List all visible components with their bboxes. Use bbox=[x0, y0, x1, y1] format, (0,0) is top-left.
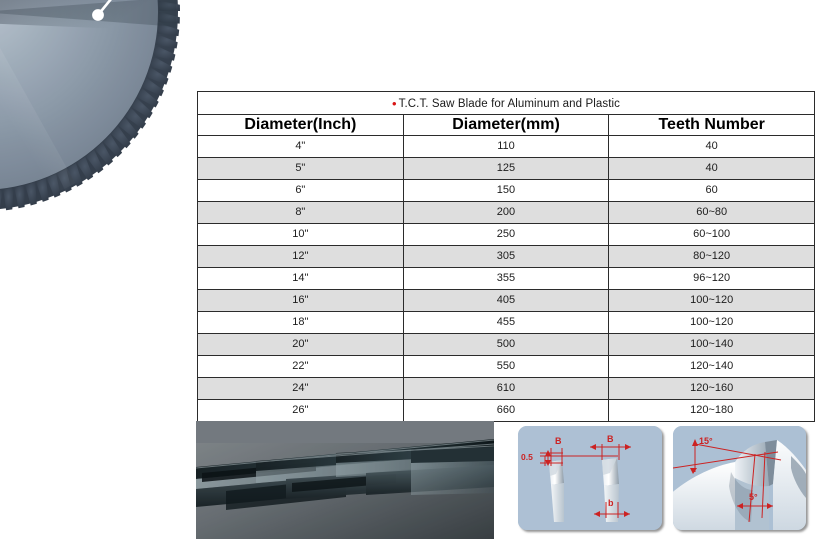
table-row: 20"500100~140 bbox=[198, 334, 815, 356]
table-row: 18"455100~120 bbox=[198, 312, 815, 334]
label-b-upper: B bbox=[555, 436, 562, 446]
table-cell: 305 bbox=[403, 246, 609, 268]
table-cell: 405 bbox=[403, 290, 609, 312]
table-row: 22"550120~140 bbox=[198, 356, 815, 378]
table-cell: 550 bbox=[403, 356, 609, 378]
table-title-text: T.C.T. Saw Blade for Aluminum and Plasti… bbox=[399, 98, 620, 110]
table-cell: 8" bbox=[198, 202, 404, 224]
table-row: 16"405100~120 bbox=[198, 290, 815, 312]
label-angle-5: 5° bbox=[749, 492, 758, 502]
table-cell: 60~100 bbox=[609, 224, 815, 246]
table-body: 4"110405"125406"150608"20060~8010"25060~… bbox=[198, 136, 815, 422]
table-cell: 10" bbox=[198, 224, 404, 246]
table-cell: 26" bbox=[198, 400, 404, 422]
table-cell: 6" bbox=[198, 180, 404, 202]
table-row: 5"12540 bbox=[198, 158, 815, 180]
table-cell: 100~120 bbox=[609, 312, 815, 334]
column-header-teeth-number: Teeth Number bbox=[609, 115, 815, 136]
table-cell: 120~160 bbox=[609, 378, 815, 400]
table-cell: 110 bbox=[403, 136, 609, 158]
table-cell: 60~80 bbox=[609, 202, 815, 224]
spec-table-container: •T.C.T. Saw Blade for Aluminum and Plast… bbox=[197, 91, 815, 422]
table-cell: 12" bbox=[198, 246, 404, 268]
table-cell: 20" bbox=[198, 334, 404, 356]
table-row: 6"15060 bbox=[198, 180, 815, 202]
table-cell: 500 bbox=[403, 334, 609, 356]
table-cell: 250 bbox=[403, 224, 609, 246]
table-cell: 610 bbox=[403, 378, 609, 400]
table-cell: 80~120 bbox=[609, 246, 815, 268]
table-cell: 355 bbox=[403, 268, 609, 290]
label-b-right: B bbox=[607, 434, 614, 444]
table-row: 12"30580~120 bbox=[198, 246, 815, 268]
table-header-row: Diameter(Inch) Diameter(mm) Teeth Number bbox=[198, 115, 815, 136]
table-cell: 5" bbox=[198, 158, 404, 180]
table-title: •T.C.T. Saw Blade for Aluminum and Plast… bbox=[198, 92, 815, 115]
table-cell: 96~120 bbox=[609, 268, 815, 290]
tooth-width-diagram: B B 0.5 b bbox=[518, 426, 662, 530]
table-title-row: •T.C.T. Saw Blade for Aluminum and Plast… bbox=[198, 92, 815, 115]
table-cell: 455 bbox=[403, 312, 609, 334]
table-cell: 125 bbox=[403, 158, 609, 180]
table-cell: 24" bbox=[198, 378, 404, 400]
table-row: 26"660120~180 bbox=[198, 400, 815, 422]
label-thickness: 0.5 bbox=[521, 452, 533, 462]
circular-saw-blade-photo bbox=[0, 0, 192, 224]
column-header-diameter-mm: Diameter(mm) bbox=[403, 115, 609, 136]
table-cell: 120~140 bbox=[609, 356, 815, 378]
table-cell: 14" bbox=[198, 268, 404, 290]
table-cell: 100~120 bbox=[609, 290, 815, 312]
table-cell: 200 bbox=[403, 202, 609, 224]
table-cell: 660 bbox=[403, 400, 609, 422]
table-cell: 150 bbox=[403, 180, 609, 202]
bullet-icon: • bbox=[392, 96, 397, 111]
table-cell: 22" bbox=[198, 356, 404, 378]
table-cell: 4" bbox=[198, 136, 404, 158]
table-cell: 60 bbox=[609, 180, 815, 202]
table-cell: 40 bbox=[609, 158, 815, 180]
table-cell: 16" bbox=[198, 290, 404, 312]
table-row: 14"35596~120 bbox=[198, 268, 815, 290]
table-row: 10"25060~100 bbox=[198, 224, 815, 246]
table-row: 4"11040 bbox=[198, 136, 815, 158]
label-angle-15: 15° bbox=[699, 436, 713, 446]
aluminum-extrusion-photo bbox=[196, 421, 494, 539]
tooth-angle-diagram: 15° 5° bbox=[673, 426, 806, 530]
table-cell: 100~140 bbox=[609, 334, 815, 356]
table-row: 8"20060~80 bbox=[198, 202, 815, 224]
spec-table: •T.C.T. Saw Blade for Aluminum and Plast… bbox=[197, 91, 815, 422]
label-b-lower: b bbox=[608, 498, 614, 508]
table-cell: 40 bbox=[609, 136, 815, 158]
figures-row: B B 0.5 b bbox=[0, 421, 823, 555]
column-header-diameter-inch: Diameter(Inch) bbox=[198, 115, 404, 136]
table-cell: 18" bbox=[198, 312, 404, 334]
table-cell: 120~180 bbox=[609, 400, 815, 422]
table-row: 24"610120~160 bbox=[198, 378, 815, 400]
